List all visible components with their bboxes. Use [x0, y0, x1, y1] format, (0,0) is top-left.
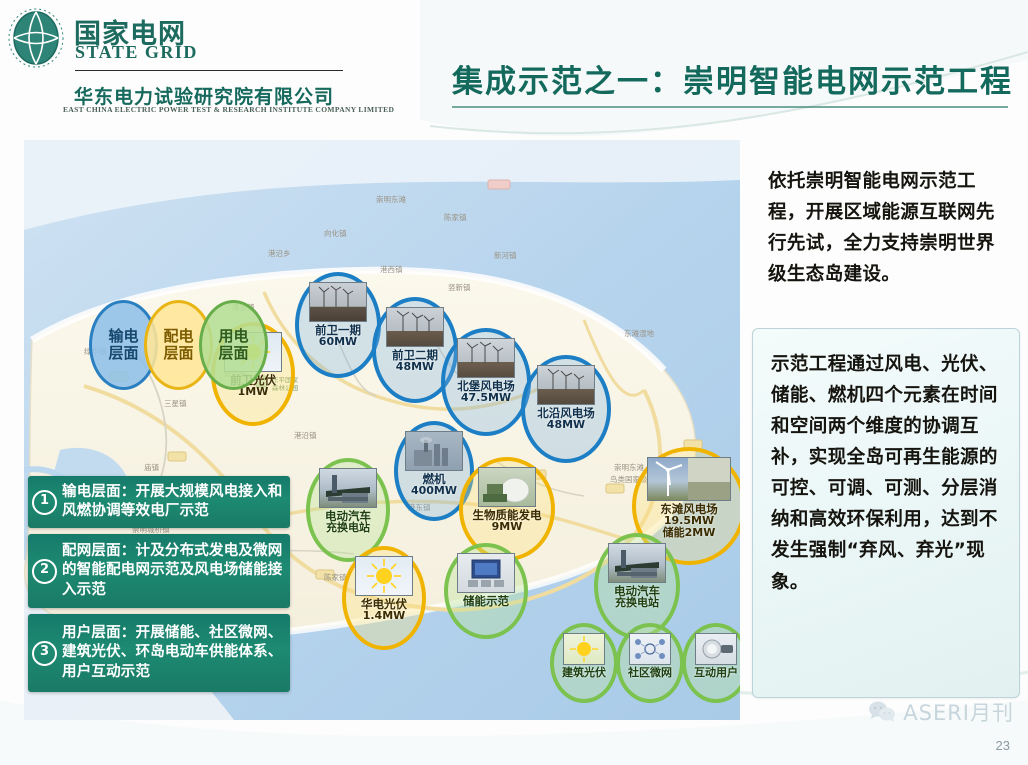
smart-meter-photo-icon [695, 633, 737, 665]
item-text: 输电层面：开展大规模风电接入和风燃协调等效电厂示范 [62, 483, 284, 521]
consumption-layer-label: 用电层面 [218, 328, 248, 363]
power-plant-photo-icon [405, 431, 463, 471]
ev-charging-station-photo-icon [608, 543, 666, 583]
item-text: 配网层面：计及分布式发电及微网的智能配电网示范及风电场储能接入示范 [62, 542, 284, 599]
callout-caption: 建筑光伏 [562, 667, 606, 679]
callout-capacity: 充换电站 [615, 597, 659, 609]
callout-capacity: 9MW [492, 521, 523, 533]
item-number-badge: 2 [32, 559, 57, 584]
svg-text:崇明东滩: 崇明东滩 [376, 194, 406, 204]
svg-text:陈家镇: 陈家镇 [444, 212, 467, 222]
svg-text:港沿乡: 港沿乡 [268, 248, 291, 258]
wind-farm-photo-icon [309, 282, 367, 322]
microgrid-diagram-photo-icon [629, 633, 671, 665]
brand-divider [75, 70, 343, 71]
callout-huadian-pv[interactable]: 华电光伏 1.4MW [342, 546, 426, 650]
callout-ev-station-east[interactable]: 电动汽车 充换电站 [594, 533, 680, 639]
callout-building-pv[interactable]: 建筑光伏 [550, 623, 618, 703]
svg-text:三星镇: 三星镇 [164, 398, 187, 408]
callout-storage-demo[interactable]: 储能示范 [444, 543, 528, 639]
callout-community-microgrid[interactable]: 社区微网 [616, 623, 684, 703]
callout-caption: 储能示范 [463, 595, 509, 607]
battery-storage-photo-icon [457, 553, 515, 593]
company-name-en: EAST CHINA ELECTRIC POWER TEST & RESEARC… [63, 105, 394, 114]
item-text: 用户层面：开展储能、社区微网、建筑光伏、环岛电动车供能体系、用户互动示范 [62, 624, 284, 681]
detail-text-panel: 示范工程通过风电、光伏、储能、燃机四个元素在时间和空间两个维度的协调互补，实现全… [752, 328, 1020, 698]
callout-storage-capacity: 储能2MW [663, 527, 716, 539]
wind-turbine-photo-icon [647, 457, 731, 501]
svg-text:港西镇: 港西镇 [380, 264, 403, 274]
intro-text-panel: 依托崇明智能电网示范工程，开展区域能源互联网先行先试，全力支持崇明世界级生态岛建… [752, 142, 1020, 316]
state-grid-globe-icon [8, 7, 64, 69]
ev-charging-station-photo-icon [319, 468, 377, 508]
callout-capacity: 充换电站 [326, 522, 370, 534]
callout-capacity: 47.5MW [461, 392, 511, 404]
callout-caption: 社区微网 [628, 667, 672, 679]
wind-farm-photo-icon [386, 307, 444, 347]
callout-qianwei-phase1[interactable]: 前卫一期 60MW [295, 272, 381, 378]
callout-caption: 互动用户 [694, 667, 738, 679]
callout-beiyan-wind[interactable]: 北沿风电场 48MW [521, 355, 611, 463]
watermark-text: ASERI月刊 [903, 697, 1014, 727]
numbered-item-3[interactable]: 3 用户层面：开展储能、社区微网、建筑光伏、环岛电动车供能体系、用户互动示范 [28, 614, 290, 692]
callout-beibao-wind[interactable]: 北堡风电场 47.5MW [441, 328, 531, 436]
wind-farm-photo-icon [457, 338, 515, 378]
slide-root: 国家电网 STATE GRID 华东电力试验研究院有限公司 EAST CHINA… [0, 0, 1028, 765]
callout-capacity: 48MW [547, 419, 585, 431]
svg-text:崇明东滩: 崇明东滩 [614, 462, 644, 472]
biomass-tank-photo-icon [478, 467, 536, 507]
transmission-layer-label: 输电层面 [108, 328, 138, 363]
slide-header: 国家电网 STATE GRID 华东电力试验研究院有限公司 EAST CHINA… [0, 0, 1028, 128]
brand-name-en: STATE GRID [75, 42, 198, 63]
svg-text:向化镇: 向化镇 [324, 228, 347, 238]
svg-text:新河镇: 新河镇 [494, 250, 517, 260]
item-number-badge: 1 [32, 490, 57, 515]
callout-capacity: 48MW [396, 361, 434, 373]
numbered-item-2[interactable]: 2 配网层面：计及分布式发电及微网的智能配电网示范及风电场储能接入示范 [28, 534, 290, 608]
rooftop-solar-photo-icon [563, 633, 605, 665]
callout-capacity: 400MW [411, 485, 457, 497]
page-title: 集成示范之一：崇明智能电网示范工程 [452, 56, 1012, 101]
callout-capacity: 1.4MW [363, 610, 406, 622]
wechat-icon [867, 700, 897, 724]
page-number: 23 [996, 738, 1010, 753]
wind-farm-photo-icon [537, 365, 595, 405]
svg-text:东滩湿地: 东滩湿地 [624, 328, 654, 338]
svg-text:竖新镇: 竖新镇 [448, 282, 471, 292]
numbered-item-1[interactable]: 1 输电层面：开展大规模风电接入和风燃协调等效电厂示范 [28, 476, 290, 528]
consumption-layer-oval[interactable]: 用电层面 [199, 300, 268, 390]
svg-text:庙镇: 庙镇 [144, 462, 159, 472]
solar-panel-photo-icon [355, 556, 413, 596]
distribution-layer-label: 配电层面 [163, 328, 193, 363]
callout-capacity: 60MW [319, 336, 357, 348]
watermark: ASERI月刊 [867, 697, 1014, 727]
item-number-badge: 3 [32, 641, 57, 666]
svg-text:港沿镇: 港沿镇 [294, 430, 317, 440]
title-underline [452, 106, 1008, 108]
